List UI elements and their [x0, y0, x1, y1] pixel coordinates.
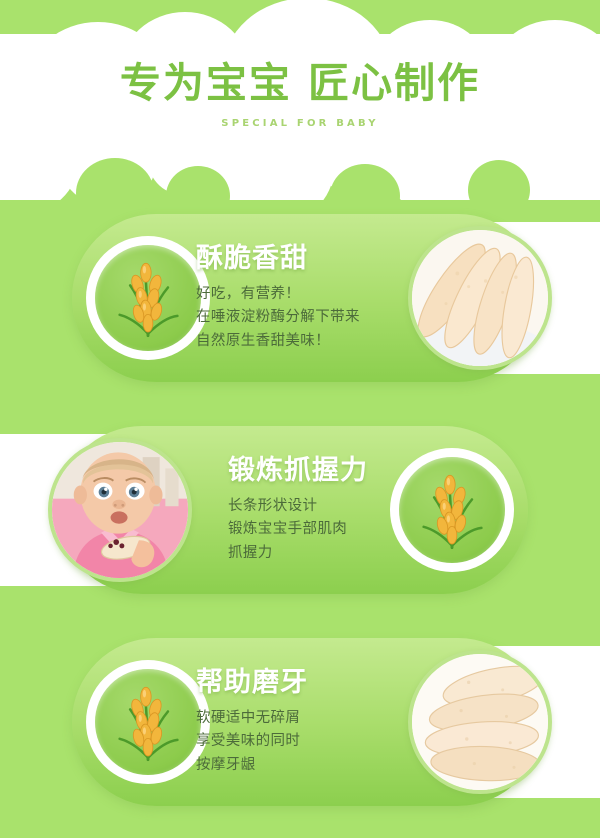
rice-cracker-sticks-photo — [408, 226, 552, 370]
card-title: 酥脆香甜 — [196, 244, 436, 274]
card-line: 锻炼宝宝手部肌肉 — [228, 518, 468, 541]
feature-card-grip-training[interactable]: 锻炼抓握力 长条形状设计 锻炼宝宝手部肌肉 抓握力 — [0, 412, 600, 608]
rice-stalk-icon — [95, 245, 201, 351]
card-line: 按摩牙龈 — [196, 754, 436, 777]
stacked-oval-crackers-photo — [408, 650, 552, 794]
card-line: 好吃，有营养！ — [196, 283, 436, 306]
card-title: 帮助磨牙 — [196, 668, 436, 698]
card-line: 享受美味的同时 — [196, 730, 436, 753]
feature-card-crispy-sweet[interactable]: 酥脆香甜 好吃，有营养！ 在唾液淀粉酶分解下带来 自然原生香甜美味！ — [0, 200, 600, 396]
header-cloud-banner: 专为宝宝 匠心制作 SPECIAL FOR BABY — [0, 0, 600, 200]
card-line: 软硬适中无碎屑 — [196, 707, 436, 730]
card-line: 抓握力 — [228, 542, 468, 565]
rice-stalk-badge — [86, 660, 210, 784]
baby-eating-cracker-photo — [48, 438, 192, 582]
page-title: 专为宝宝 匠心制作 — [0, 58, 600, 109]
card-line: 长条形状设计 — [228, 495, 468, 518]
card-text-block: 帮助磨牙 软硬适中无碎屑 享受美味的同时 按摩牙龈 — [196, 668, 436, 777]
rice-stalk-badge — [86, 236, 210, 360]
card-line: 自然原生香甜美味！ — [196, 330, 436, 353]
feature-card-teething-help[interactable]: 帮助磨牙 软硬适中无碎屑 享受美味的同时 按摩牙龈 — [0, 624, 600, 820]
feature-cards-list: 酥脆香甜 好吃，有营养！ 在唾液淀粉酶分解下带来 自然原生香甜美味！ — [0, 200, 600, 838]
header-text-group: 专为宝宝 匠心制作 SPECIAL FOR BABY — [0, 58, 600, 129]
rice-stalk-icon — [95, 669, 201, 775]
card-text-block: 酥脆香甜 好吃，有营养！ 在唾液淀粉酶分解下带来 自然原生香甜美味！ — [196, 244, 436, 353]
page-subtitle: SPECIAL FOR BABY — [0, 118, 600, 129]
card-text-block: 锻炼抓握力 长条形状设计 锻炼宝宝手部肌肉 抓握力 — [228, 456, 468, 565]
card-line: 在唾液淀粉酶分解下带来 — [196, 306, 436, 329]
card-title: 锻炼抓握力 — [228, 456, 468, 486]
